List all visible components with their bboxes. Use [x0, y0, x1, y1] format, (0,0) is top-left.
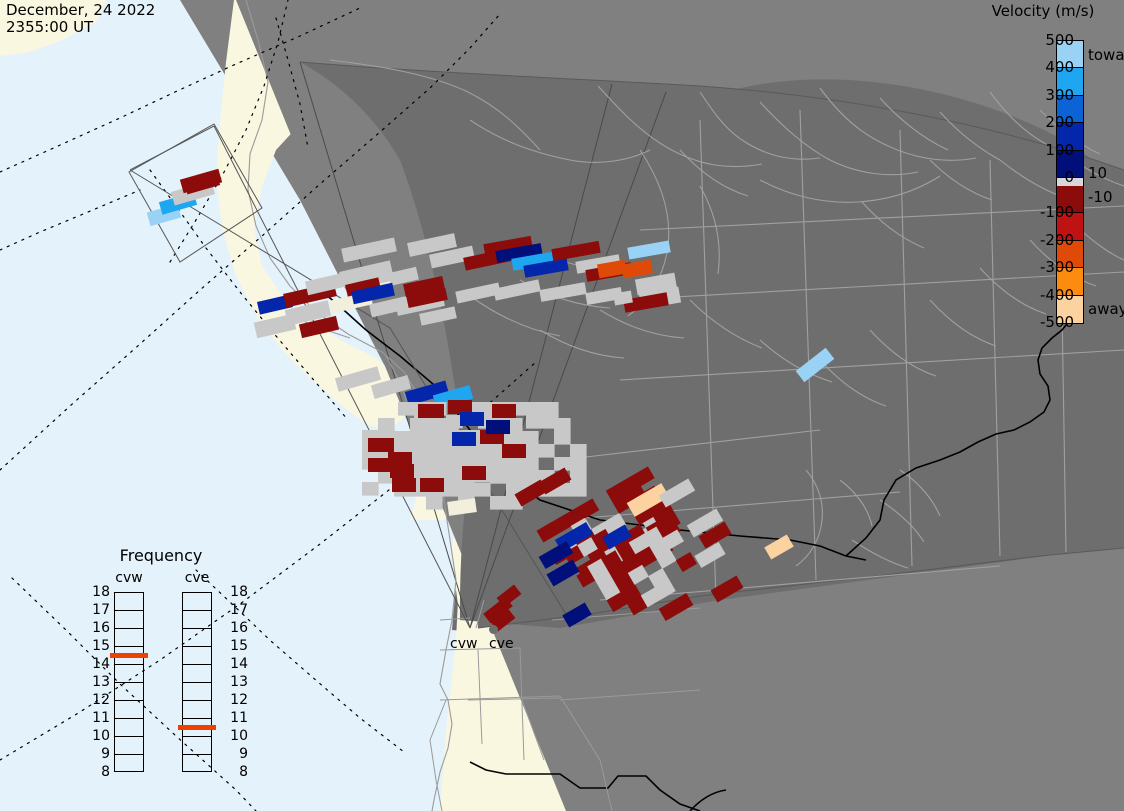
- frequency-tick: [183, 683, 211, 701]
- colorbar-tick--100: -100: [1012, 203, 1074, 221]
- velocity-cell: [452, 432, 476, 446]
- velocity-cell: [526, 402, 543, 416]
- colorbar-tick--200: -200: [1012, 231, 1074, 249]
- velocity-cell: [460, 412, 484, 426]
- colorbar-pos-threshold: 10: [1088, 164, 1107, 182]
- velocity-cell: [474, 483, 491, 497]
- velocity-cell: [659, 478, 695, 507]
- frequency-value-12: 12: [226, 692, 248, 708]
- frequency-tick: [183, 611, 211, 629]
- frequency-tick: [183, 647, 211, 665]
- colorbar-tick--300: -300: [1012, 258, 1074, 276]
- velocity-cell: [522, 456, 539, 470]
- timestamp-block: December, 24 20222355:00 UT: [6, 2, 155, 36]
- velocity-cell: [418, 404, 444, 418]
- velocity-cell: [627, 240, 670, 259]
- velocity-cell: [410, 444, 427, 458]
- frequency-value-18: 18: [88, 584, 110, 600]
- velocity-cell: [426, 457, 443, 471]
- colorbar-away-label: away: [1088, 300, 1124, 318]
- velocity-cell: [764, 534, 794, 559]
- frequency-tick: [183, 701, 211, 719]
- velocity-cell: [490, 470, 507, 484]
- frequency-legend: Frequency cvw18171615141312111098cve1817…: [86, 546, 246, 796]
- velocity-cell: [378, 418, 395, 432]
- velocity-cell: [362, 482, 379, 496]
- velocity-cell: [796, 348, 835, 382]
- frequency-value-15: 15: [226, 638, 248, 654]
- frequency-value-9: 9: [88, 746, 110, 762]
- frequency-marker-cve: [178, 725, 216, 730]
- colorbar-toward-label: toward: [1088, 46, 1124, 64]
- timestamp-date: December, 24 2022: [6, 1, 155, 19]
- velocity-cell: [562, 602, 592, 627]
- frequency-value-10: 10: [226, 728, 248, 744]
- velocity-cell: [394, 431, 411, 445]
- velocity-cell: [522, 469, 539, 483]
- frequency-tick: [115, 755, 143, 773]
- velocity-cell: [506, 457, 523, 471]
- frequency-scale-bar: [114, 592, 144, 772]
- velocity-cell: [506, 470, 523, 484]
- frequency-column-label: cve: [177, 570, 217, 586]
- velocity-cell: [341, 238, 397, 263]
- frequency-value-10: 10: [88, 728, 110, 744]
- frequency-value-11: 11: [88, 710, 110, 726]
- velocity-cell: [551, 241, 600, 261]
- frequency-value-13: 13: [88, 674, 110, 690]
- velocity-cell: [447, 498, 477, 516]
- velocity-cell: [410, 430, 427, 444]
- velocity-cell: [442, 469, 459, 483]
- radar-map-screenshot: December, 24 20222355:00 UT Velocity (m/…: [0, 0, 1124, 811]
- frequency-title: Frequency: [86, 546, 236, 565]
- velocity-cell: [426, 496, 443, 510]
- velocity-cell: [570, 444, 587, 458]
- frequency-tick: [183, 665, 211, 683]
- colorbar-title: Velocity (m/s): [978, 2, 1108, 20]
- frequency-value-12: 12: [88, 692, 110, 708]
- frequency-tick: [115, 683, 143, 701]
- velocity-cell: [538, 444, 555, 458]
- frequency-value-17: 17: [226, 602, 248, 618]
- velocity-cell: [542, 402, 559, 416]
- velocity-cell: [711, 575, 744, 602]
- velocity-cell: [474, 443, 491, 457]
- velocity-cell: [492, 404, 516, 418]
- colorbar-tick-200: 200: [1012, 113, 1074, 131]
- velocity-cell: [570, 483, 587, 497]
- frequency-value-14: 14: [226, 656, 248, 672]
- velocity-cell: [539, 282, 586, 302]
- frequency-value-16: 16: [226, 620, 248, 636]
- frequency-tick: [115, 593, 143, 611]
- frequency-value-13: 13: [226, 674, 248, 690]
- velocity-cell: [621, 260, 653, 279]
- frequency-value-18: 18: [226, 584, 248, 600]
- frequency-value-8: 8: [226, 764, 248, 780]
- velocity-cell: [542, 415, 559, 429]
- frequency-tick: [115, 611, 143, 629]
- velocity-cell: [486, 420, 510, 434]
- frequency-tick: [115, 737, 143, 755]
- colorbar-tick-300: 300: [1012, 86, 1074, 104]
- frequency-tick: [183, 593, 211, 611]
- colorbar-neg-threshold: -10: [1088, 188, 1113, 206]
- velocity-cell: [455, 283, 501, 304]
- colorbar-tick-500: 500: [1012, 31, 1074, 49]
- frequency-tick: [183, 755, 211, 773]
- velocity-cell: [420, 478, 444, 492]
- velocity-cell: [490, 496, 507, 510]
- frequency-tick: [115, 665, 143, 683]
- colorbar-tick-0: 0: [1012, 168, 1074, 186]
- velocity-cell: [448, 400, 472, 414]
- frequency-value-8: 8: [88, 764, 110, 780]
- colorbar-tick-100: 100: [1012, 141, 1074, 159]
- velocity-cell: [254, 314, 297, 339]
- velocity-cell: [392, 478, 416, 492]
- frequency-tick: [183, 629, 211, 647]
- frequency-value-11: 11: [226, 710, 248, 726]
- frequency-marker-cvw: [110, 653, 148, 658]
- frequency-value-16: 16: [88, 620, 110, 636]
- colorbar-tick-400: 400: [1012, 58, 1074, 76]
- frequency-value-17: 17: [88, 602, 110, 618]
- velocity-cell: [554, 457, 571, 471]
- velocity-cell: [570, 470, 587, 484]
- velocity-cell: [458, 483, 475, 497]
- frequency-tick: [115, 701, 143, 719]
- colorbar-tick--400: -400: [1012, 286, 1074, 304]
- velocity-cell: [676, 552, 697, 572]
- velocity-cell: [570, 457, 587, 471]
- radar-site-label-cve: cve: [489, 636, 514, 652]
- frequency-tick: [115, 719, 143, 737]
- velocity-cell: [526, 415, 543, 429]
- velocity-cell: [554, 431, 571, 445]
- frequency-tick: [183, 737, 211, 755]
- radar-site-marker: [489, 625, 498, 634]
- frequency-tick: [115, 629, 143, 647]
- velocity-cell: [442, 457, 459, 471]
- velocity-cell: [426, 443, 443, 457]
- velocity-cell: [368, 438, 394, 452]
- frequency-value-14: 14: [88, 656, 110, 672]
- velocity-cell: [426, 430, 443, 444]
- colorbar-tick--500: -500: [1012, 313, 1074, 331]
- velocity-cell: [398, 402, 415, 416]
- velocity-cell: [490, 456, 507, 470]
- velocity-cell: [368, 458, 394, 472]
- timestamp-time: 2355:00 UT: [6, 18, 93, 36]
- velocity-colorbar: Velocity (m/s) 5004003002001000-100-200-…: [978, 2, 1124, 332]
- frequency-value-9: 9: [226, 746, 248, 762]
- frequency-scale-bar: [182, 592, 212, 772]
- velocity-cell: [462, 466, 486, 480]
- velocity-cell: [522, 431, 539, 445]
- radar-site-label-cvw: cvw: [450, 636, 477, 652]
- velocity-cell: [442, 483, 459, 497]
- frequency-value-15: 15: [88, 638, 110, 654]
- velocity-cell: [502, 444, 526, 458]
- frequency-column-label: cvw: [109, 570, 149, 586]
- velocity-cell: [458, 444, 475, 458]
- velocity-cell: [493, 279, 540, 300]
